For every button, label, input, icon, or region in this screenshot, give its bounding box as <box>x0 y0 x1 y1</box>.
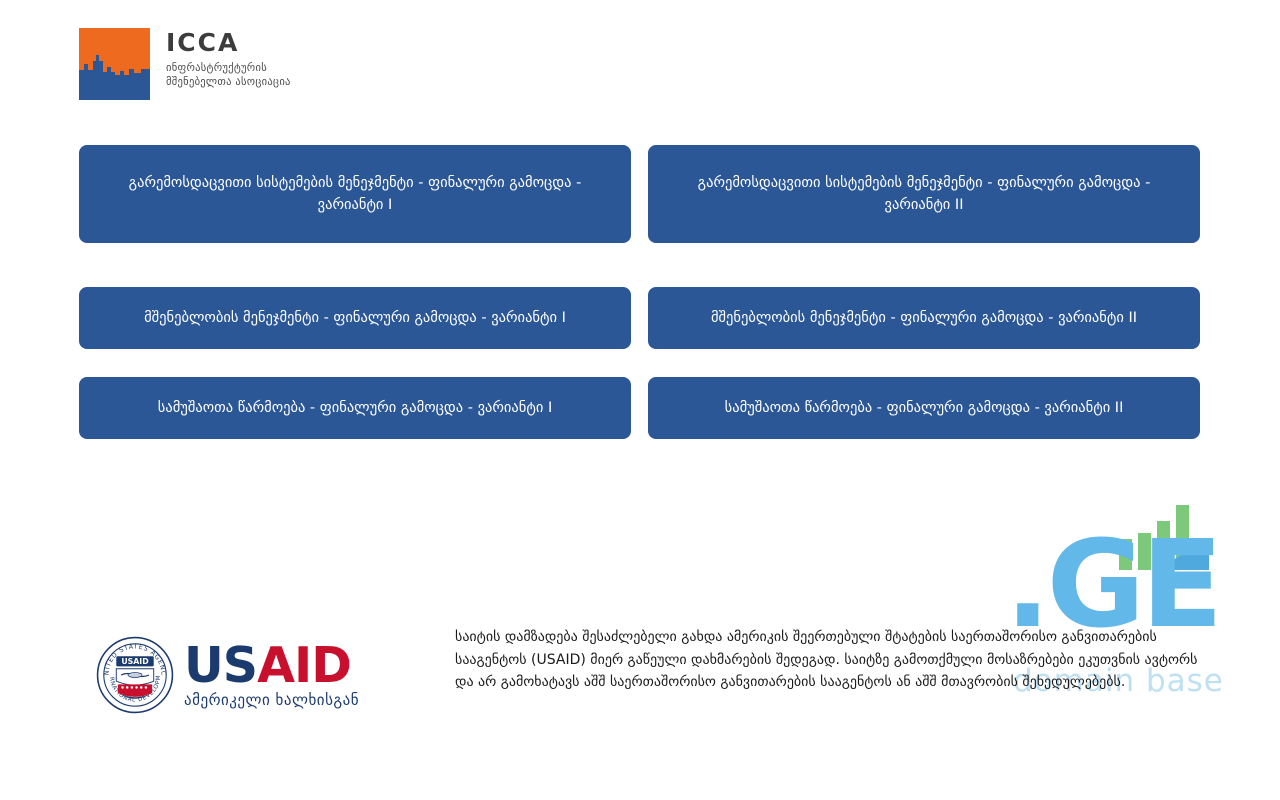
document-button-construction-variant-1[interactable]: მშენებლობის მენეჯმენტი - ფინალური გამოცდ… <box>79 287 631 349</box>
usaid-tagline: ამერიკელი ხალხისგან <box>184 691 359 709</box>
document-button-construction-variant-2[interactable]: მშენებლობის მენეჯმენტი - ფინალური გამოცდ… <box>648 287 1200 349</box>
site-brand[interactable]: ICCA ინფრასტრუქტურის მშენებელთა ასოციაცი… <box>79 28 296 100</box>
usaid-disclaimer-text: საიტის დამზადება შესაძლებელი გახდა ამერი… <box>455 626 1200 694</box>
usaid-wordmark-us: US <box>184 637 257 694</box>
page-footer: UNITED STATES AGENCY INTERNATIONAL DEVEL… <box>0 620 1280 730</box>
document-row: სამუშაოთა წარმოება - ფინალური გამოცდა - … <box>79 377 1200 439</box>
document-row: გარემოსდაცვითი სისტემების მენეჯმენტი - ფ… <box>79 145 1200 243</box>
document-button-label: სამუშაოთა წარმოება - ფინალური გამოცდა - … <box>725 397 1124 419</box>
document-button-env-variant-2[interactable]: გარემოსდაცვითი სისტემების მენეჯმენტი - ფ… <box>648 145 1200 243</box>
document-button-env-variant-1[interactable]: გარემოსდაცვითი სისტემების მენეჯმენტი - ფ… <box>79 145 631 243</box>
growth-bars-icon <box>1113 503 1213 573</box>
document-row: მშენებლობის მენეჯმენტი - ფინალური გამოცდ… <box>79 287 1200 349</box>
document-button-label: მშენებლობის მენეჯმენტი - ფინალური გამოცდ… <box>144 307 566 329</box>
brand-subtitle: ინფრასტრუქტურის მშენებელთა ასოციაცია <box>166 62 296 90</box>
usaid-seal-icon: UNITED STATES AGENCY INTERNATIONAL DEVEL… <box>96 636 174 714</box>
document-button-label: სამუშაოთა წარმოება - ფინალური გამოცდა - … <box>158 397 552 419</box>
document-button-grid: გარემოსდაცვითი სისტემების მენეჯმენტი - ფ… <box>79 145 1200 439</box>
document-button-label: გარემოსდაცვითი სისტემების მენეჯმენტი - ფ… <box>670 172 1178 217</box>
usaid-logo: UNITED STATES AGENCY INTERNATIONAL DEVEL… <box>96 636 359 714</box>
brand-text-block: ICCA ინფრასტრუქტურის მშენებელთა ასოციაცი… <box>166 28 296 90</box>
usaid-wordmark: USAID <box>184 641 359 690</box>
document-button-works-variant-2[interactable]: სამუშაოთა წარმოება - ფინალური გამოცდა - … <box>648 377 1200 439</box>
document-button-works-variant-1[interactable]: სამუშაოთა წარმოება - ფინალური გამოცდა - … <box>79 377 631 439</box>
document-button-label: გარემოსდაცვითი სისტემების მენეჯმენტი - ფ… <box>101 172 609 217</box>
svg-text:USAID: USAID <box>121 657 149 666</box>
page-root: .GE domain base ICCA ინფრასტრუქტურის მშე… <box>0 0 1280 800</box>
document-button-label: მშენებლობის მენეჯმენტი - ფინალური გამოცდ… <box>711 307 1137 329</box>
icca-skyline-logo <box>79 28 150 100</box>
usaid-text-block: USAID ამერიკელი ხალხისგან <box>184 641 359 709</box>
usaid-wordmark-aid: AID <box>257 637 351 694</box>
brand-acronym: ICCA <box>166 30 296 55</box>
